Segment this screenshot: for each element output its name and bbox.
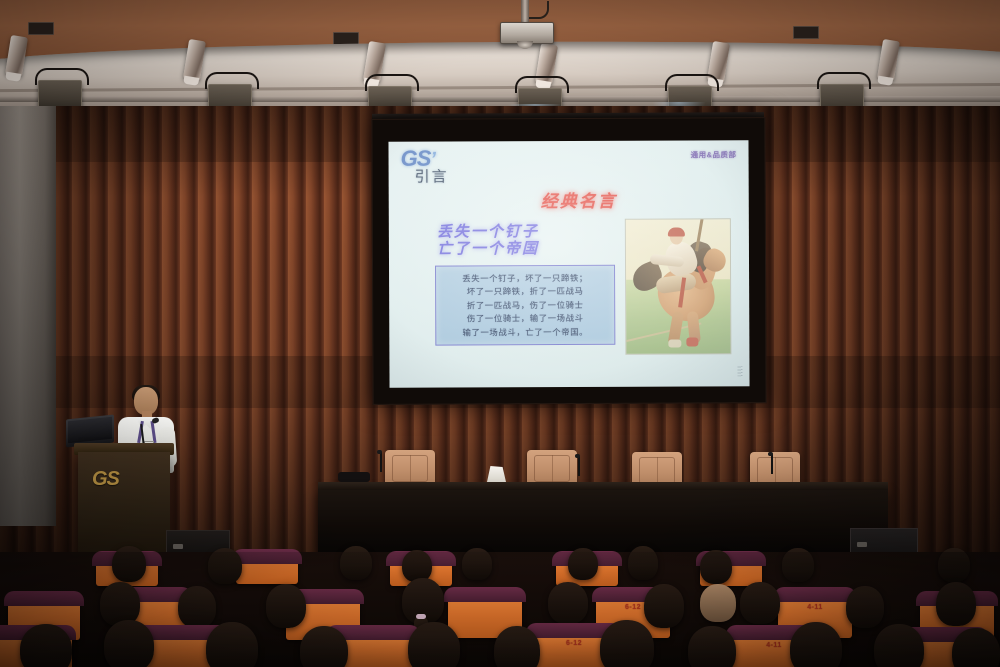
table-equipment xyxy=(338,472,370,482)
slide-horse-illustration xyxy=(625,218,732,354)
audience-head xyxy=(782,548,814,582)
poem-line: 输了一场战斗，亡了一个帝国。 xyxy=(436,325,614,339)
presentation-slide: GS’ 通用&品质部 引言 经典名言 丢失一个钉子 亡了一个帝国 丢失一个钉子，… xyxy=(388,140,749,388)
slide-poem-text: 丢失一个钉子，坏了一只蹄铁； 坏了一只蹄铁，折了一匹战马 折了一匹战马，伤了一位… xyxy=(436,272,614,340)
ceiling-vent-icon xyxy=(793,26,819,39)
audience-head xyxy=(600,620,654,667)
slide-department-label: 通用&品质部 xyxy=(691,149,737,160)
audience-head xyxy=(462,548,492,580)
audience-head xyxy=(494,626,540,667)
audience-head xyxy=(874,624,924,667)
poem-line: 坏了一只蹄铁，折了一匹战马 xyxy=(436,285,614,299)
audience-head xyxy=(846,586,884,628)
slide-headline-blue-line1: 丢失一个钉子 xyxy=(437,223,539,240)
audience-head xyxy=(644,584,684,628)
audience-area: 6-12 4-11 6-12 4-11 xyxy=(0,552,1000,667)
audience-head xyxy=(700,550,732,584)
audience-head xyxy=(300,626,348,667)
audience-head xyxy=(408,622,460,667)
stage-chair xyxy=(527,450,577,486)
audience-head xyxy=(568,548,598,580)
projection-screen: GS’ 通用&品质部 引言 经典名言 丢失一个钉子 亡了一个帝国 丢失一个钉子，… xyxy=(371,117,766,405)
seat-rim xyxy=(774,587,856,602)
table-microphone-stem xyxy=(578,456,580,476)
illustration-haze xyxy=(626,219,731,353)
audience-seat xyxy=(236,554,298,584)
audience-head xyxy=(938,548,970,582)
audience-head xyxy=(104,620,154,667)
hair-tie xyxy=(416,614,426,619)
table-microphone-icon xyxy=(377,450,382,454)
conference-table xyxy=(318,490,888,552)
audience-head xyxy=(628,546,658,580)
slide-title: 引言 xyxy=(415,166,449,187)
slide-poem-box: 丢失一个钉子，坏了一只蹄铁； 坏了一只蹄铁，折了一匹战马 折了一匹战马，伤了一位… xyxy=(435,265,615,346)
table-microphone-icon xyxy=(768,452,773,456)
audience-head xyxy=(700,584,736,622)
audience-head xyxy=(208,548,242,584)
slide-corner-marks xyxy=(737,366,742,376)
seat-rim xyxy=(232,549,302,564)
table-microphone-icon xyxy=(575,454,580,458)
slide-headline-red: 经典名言 xyxy=(541,187,617,212)
audience-head xyxy=(402,550,432,582)
audience-head xyxy=(266,584,306,628)
audience-head xyxy=(178,586,216,628)
audience-head xyxy=(112,546,146,582)
wall-column xyxy=(0,106,56,526)
audience-head xyxy=(936,582,976,626)
audience-head xyxy=(548,582,588,624)
pa-speaker-badge xyxy=(857,542,867,547)
audience-head xyxy=(206,622,258,667)
table-microphone-stem xyxy=(771,454,773,474)
stage-chair xyxy=(385,450,435,486)
poem-line: 伤了一位骑士，输了一场战斗 xyxy=(436,312,614,326)
seat-number: 4-11 xyxy=(778,604,852,611)
poem-line: 丢失一个钉子，坏了一只蹄铁； xyxy=(436,272,614,286)
pa-speaker-badge xyxy=(173,544,183,549)
audience-head xyxy=(20,624,72,667)
slide-headline-blue: 丢失一个钉子 亡了一个帝国 xyxy=(437,223,539,257)
audience-head xyxy=(740,582,780,624)
column-shading xyxy=(0,106,56,526)
audience-head xyxy=(688,626,736,667)
laptop-screen xyxy=(68,417,112,444)
slide-headline-blue-line2: 亡了一个帝国 xyxy=(437,240,539,257)
audience-head xyxy=(340,546,372,580)
auditorium-scene: GS’ 通用&品质部 引言 经典名言 丢失一个钉子 亡了一个帝国 丢失一个钉子，… xyxy=(0,0,1000,667)
audience-head xyxy=(952,628,1000,667)
poem-line: 折了一匹战马，伤了一位骑士 xyxy=(436,299,614,313)
podium-logo: GS xyxy=(92,468,119,491)
seat-rim xyxy=(444,587,526,602)
audience-head xyxy=(790,622,842,667)
ceiling-vent-icon xyxy=(28,22,54,35)
table-microphone-stem xyxy=(380,452,382,472)
seat-rim xyxy=(4,591,84,606)
